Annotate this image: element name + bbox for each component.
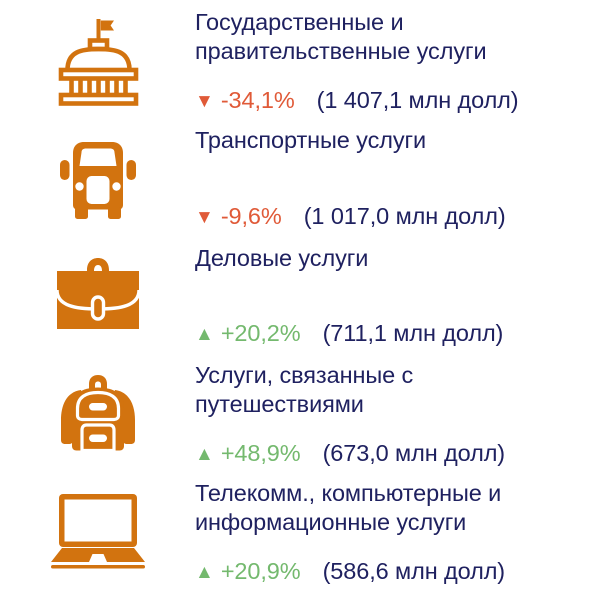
trend-up-icon: ▲	[195, 325, 214, 344]
category-title: Транспортные услуги	[195, 126, 610, 155]
trend-up-icon: ▲	[195, 445, 214, 464]
stat-line: ▼ -34,1% (1 407,1 млн долл)	[195, 86, 610, 118]
stat-line: ▲ +20,9% (586,6 млн долл)	[195, 557, 610, 589]
government-building-icon	[0, 0, 195, 118]
percent-change: +48,9%	[221, 439, 301, 467]
briefcase-icon	[0, 236, 195, 354]
absolute-value: (1 017,0 млн долл)	[304, 202, 506, 230]
percent-change: -9,6%	[221, 202, 282, 230]
stat-row: Государственные и правительственные услу…	[0, 0, 610, 118]
services-statistics-infographic: Государственные и правительственные услу…	[0, 0, 610, 589]
absolute-value: (711,1 млн долл)	[323, 319, 504, 347]
stat-text-group: Деловые услуги ▲ +20,2% (711,1 млн долл)	[195, 236, 610, 354]
absolute-value: (1 407,1 млн долл)	[317, 86, 519, 114]
stat-row: Деловые услуги ▲ +20,2% (711,1 млн долл)	[0, 236, 610, 354]
stat-row: Транспортные услуги ▼ -9,6% (1 017,0 млн…	[0, 118, 610, 236]
percent-change: -34,1%	[221, 86, 295, 114]
category-title: Деловые услуги	[195, 244, 610, 273]
stat-text-group: Телекомм., компьютерные и информационные…	[195, 471, 610, 589]
stat-text-group: Услуги, связанные с путешествиями ▲ +48,…	[195, 353, 610, 471]
trend-down-icon: ▼	[195, 208, 214, 227]
stat-row: Телекомм., компьютерные и информационные…	[0, 471, 610, 589]
backpack-icon	[0, 353, 195, 471]
percent-change: +20,9%	[221, 557, 301, 585]
stat-text-group: Государственные и правительственные услу…	[195, 0, 610, 118]
stat-text-group: Транспортные услуги ▼ -9,6% (1 017,0 млн…	[195, 118, 610, 236]
trend-down-icon: ▼	[195, 92, 214, 111]
stat-row: Услуги, связанные с путешествиями ▲ +48,…	[0, 353, 610, 471]
trend-up-icon: ▲	[195, 563, 214, 582]
percent-change: +20,2%	[221, 319, 301, 347]
stat-line: ▲ +20,2% (711,1 млн долл)	[195, 319, 610, 353]
laptop-icon	[0, 471, 195, 589]
absolute-value: (586,6 млн долл)	[323, 557, 505, 585]
absolute-value: (673,0 млн долл)	[323, 439, 505, 467]
category-title: Телекомм., компьютерные и информационные…	[195, 479, 610, 536]
bus-icon	[0, 118, 195, 236]
stat-line: ▲ +48,9% (673,0 млн долл)	[195, 439, 610, 471]
stat-line: ▼ -9,6% (1 017,0 млн долл)	[195, 202, 610, 236]
category-title: Услуги, связанные с путешествиями	[195, 361, 610, 418]
category-title: Государственные и правительственные услу…	[195, 8, 610, 65]
